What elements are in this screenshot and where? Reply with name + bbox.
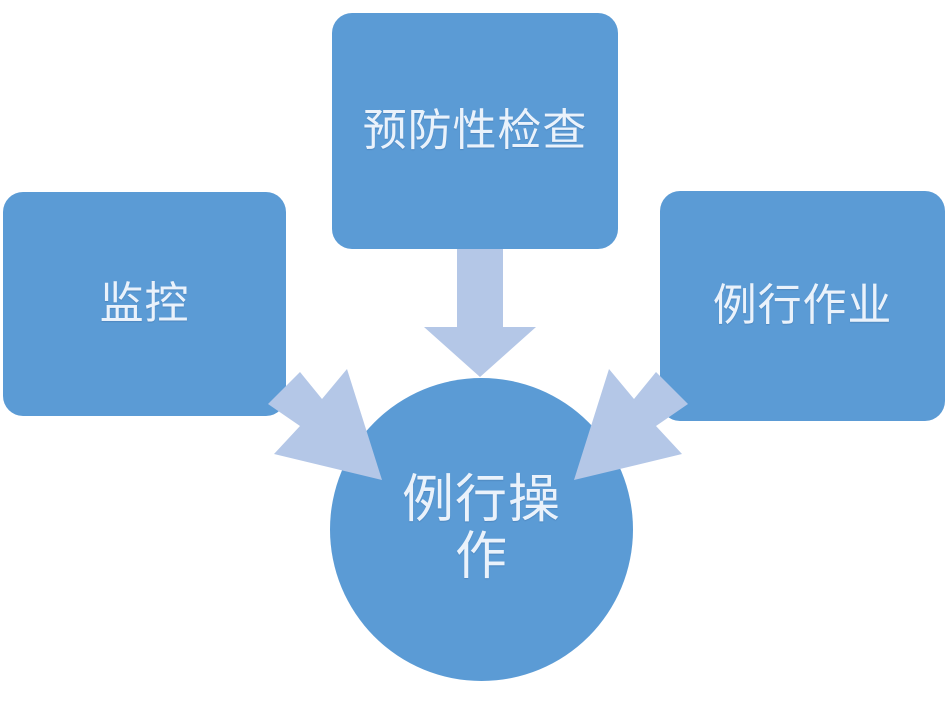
node-preventive-inspection-label: 预防性检查 (363, 107, 587, 155)
node-monitoring-label: 监控 (100, 280, 190, 328)
diagram-canvas: 监控 预防性检查 例行作业 例行操作 (0, 0, 948, 705)
node-monitoring[interactable]: 监控 (3, 192, 286, 416)
node-routine-operation-label: 例行操作 (386, 473, 577, 585)
arrow-down-icon (424, 249, 536, 377)
node-routine-operation[interactable]: 例行操作 (330, 378, 633, 681)
node-preventive-inspection[interactable]: 预防性检查 (332, 13, 618, 249)
node-routine-task-label: 例行作业 (713, 282, 893, 330)
node-routine-task[interactable]: 例行作业 (660, 191, 945, 421)
